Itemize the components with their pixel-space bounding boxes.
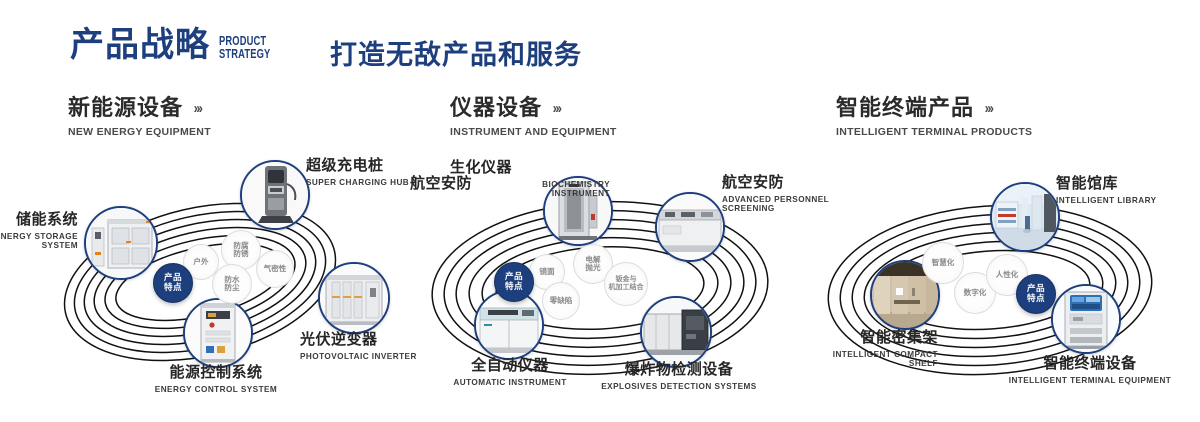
- section-label-en: INTELLIGENT TERMINAL PRODUCTS: [836, 126, 1032, 138]
- core-bubble-product-features: 产品 特点: [1016, 274, 1056, 314]
- node-intelligent-library[interactable]: [990, 182, 1060, 252]
- section-label-cn: 智能终端产品: [836, 97, 974, 119]
- node-super-charging-hub[interactable]: [240, 160, 310, 230]
- cluster-instrument-and-equipment: 生化仪器 BIOCHEMISTRY INSTRUMENT 航空安防 航空安防 A…: [400, 150, 800, 422]
- page-subtitle: 打造无敌产品和服务: [330, 33, 582, 72]
- node-energy-control-system[interactable]: [183, 298, 253, 368]
- cluster-intelligent-terminal-products: 智能馆库 INTELLIGENT LIBRARY 智能密集架 INTELLIGE…: [800, 150, 1200, 422]
- core-bubble-product-features: 产品 特点: [153, 263, 193, 303]
- feature-bubble: 钣金与 机加工结合: [604, 262, 648, 306]
- chevrons-right-icon: ›››: [194, 101, 202, 116]
- feature-bubble: 零缺陷: [542, 282, 580, 320]
- section-label-cn: 新能源设备: [68, 97, 183, 119]
- section-title-intelligent-terminal: 智能终端产品 ››› INTELLIGENT TERMINAL PRODUCTS: [836, 97, 1032, 138]
- label-energy-control-system: 能源控制系统 ENERGY CONTROL SYSTEM: [66, 365, 366, 394]
- page-title-en: PRODUCT STRATEGY: [219, 34, 270, 61]
- node-explosives-detection-systems[interactable]: [640, 296, 712, 368]
- feature-bubble: 防水 防尘: [212, 264, 252, 304]
- section-label-cn: 仪器设备: [450, 97, 542, 119]
- label-intelligent-library: 智能馆库 INTELLIGENT LIBRARY: [1056, 176, 1196, 205]
- chevrons-right-icon: ›››: [985, 101, 993, 116]
- label-energy-storage-system: 储能系统 ENERGY STORAGE SYSTEM: [0, 212, 78, 250]
- cluster-new-energy-equipment: 储能系统 ENERGY STORAGE SYSTEM 超级充电桩 SUPER C…: [0, 150, 400, 422]
- label-aviation-security-left: 航空安防: [410, 176, 510, 193]
- label-intelligent-compact-shelf: 智能密集架 INTELLIGENT COMPACT SHELF: [760, 330, 938, 368]
- product-strategy-infographic: 产品战略 PRODUCT STRATEGY 打造无敌产品和服务 新能源设备 ››…: [0, 0, 1200, 422]
- page-title-cn: 产品战略: [70, 28, 210, 62]
- feature-bubble: 气密性: [256, 250, 294, 288]
- core-bubble-product-features: 产品 特点: [494, 262, 534, 302]
- section-label-en: NEW ENERGY EQUIPMENT: [68, 126, 211, 138]
- feature-bubble: 智慧化: [922, 242, 964, 284]
- node-energy-storage-system[interactable]: [84, 206, 158, 280]
- node-photovoltaic-inverter[interactable]: [318, 262, 390, 334]
- label-intelligent-terminal-equipment: 智能终端设备 INTELLIGENT TERMINAL EQUIPMENT: [990, 356, 1190, 385]
- section-title-new-energy: 新能源设备 ››› NEW ENERGY EQUIPMENT: [68, 97, 211, 138]
- label-automatic-instrument: 全自动仪器 AUTOMATIC INSTRUMENT: [420, 358, 600, 387]
- section-label-en: INSTRUMENT AND EQUIPMENT: [450, 126, 617, 138]
- node-advanced-personnel-screening[interactable]: [655, 192, 725, 262]
- chevrons-right-icon: ›››: [553, 101, 561, 116]
- node-intelligent-terminal-equipment[interactable]: [1051, 284, 1121, 354]
- section-title-instrument: 仪器设备 ››› INSTRUMENT AND EQUIPMENT: [450, 97, 617, 138]
- page-header: 产品战略 PRODUCT STRATEGY: [70, 28, 290, 62]
- label-explosives-detection-systems: 爆炸物检测设备 EXPLOSIVES DETECTION SYSTEMS: [584, 362, 774, 391]
